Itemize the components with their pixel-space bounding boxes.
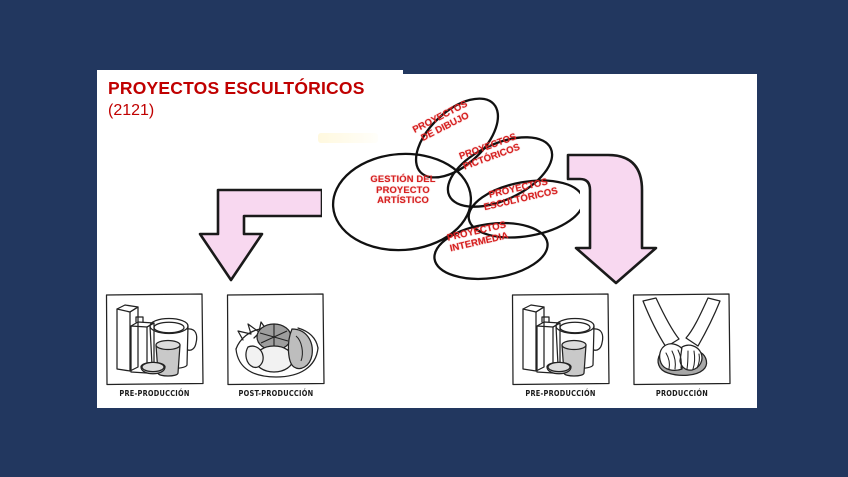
still-life-sketch: [509, 291, 612, 387]
panel-caption: PRE-PRODUCCIÓN: [103, 389, 206, 398]
title-block: PROYECTOS ESCULTÓRICOS (2121): [108, 78, 365, 122]
hands-modelling-clay-sketch: [630, 291, 733, 387]
panel-caption: POST-PRODUCCIÓN: [224, 389, 327, 398]
panel-caption: PRODUCCIÓN: [630, 389, 733, 398]
arrow-right-icon: [560, 152, 658, 286]
panel-caption: PRE-PRODUCCIÓN: [509, 389, 612, 398]
panel-right-prod: PRODUCCIÓN: [630, 291, 733, 397]
slide-canvas: PROYECTOS ESCULTÓRICOS (2121) GESTIÓN DE…: [0, 0, 848, 477]
page-title: PROYECTOS ESCULTÓRICOS: [108, 78, 365, 100]
still-life-sketch: [103, 291, 206, 387]
panel-pair-right: PRE-PRODUCCIÓN: [509, 291, 733, 397]
arrow-right: [560, 152, 658, 291]
highlight-artifact: [318, 133, 378, 143]
arrow-left-icon: [196, 188, 322, 284]
bread-basket-sketch: [224, 291, 327, 387]
panel-right-pre: PRE-PRODUCCIÓN: [509, 291, 612, 397]
course-code: (2121): [108, 101, 365, 122]
oval-outlines: [330, 82, 580, 282]
panel-left-post: POST-PRODUCCIÓN: [224, 291, 327, 397]
venn-oval-diagram: GESTIÓN DEL PROYECTO ARTÍSTICO PROYECTOS…: [330, 82, 580, 287]
arrow-left: [196, 188, 322, 289]
panel-left-pre: PRE-PRODUCCIÓN: [103, 291, 206, 397]
panel-pair-left: PRE-PRODUCCIÓN: [103, 291, 327, 397]
